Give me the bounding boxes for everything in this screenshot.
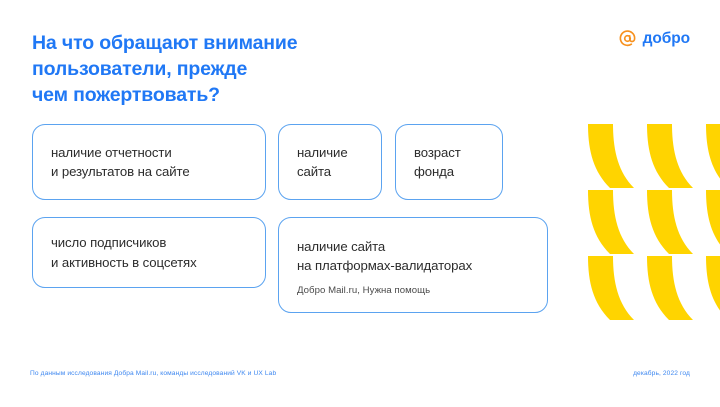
title-line-2: пользователи, прежде (32, 58, 247, 80)
dobro-logo[interactable]: добро (618, 29, 690, 48)
title-line-1: На что обращают внимание (32, 32, 297, 54)
at-circle-icon (618, 29, 637, 48)
factor-card-fund-age[interactable]: возраст фонда (395, 124, 503, 200)
footer-date: декабрь, 2022 год (633, 370, 690, 378)
card-label: наличие отчетности и результатов на сайт… (51, 143, 247, 182)
card-label: возраст фонда (414, 143, 484, 182)
slide-canvas: добро На что обращают внимание пользоват… (0, 0, 720, 407)
factor-card-website-presence[interactable]: наличие сайта (278, 124, 382, 200)
swoosh-pattern-svg (588, 120, 720, 330)
card-label: наличие сайта (297, 143, 363, 182)
card-sublabel: Добро Mail.ru, Нужна помощь (297, 285, 529, 297)
swoosh-row-1 (588, 124, 720, 188)
factor-card-validator-platforms[interactable]: наличие сайта на платформах-валидаторах … (278, 217, 548, 313)
factor-card-subscribers-and-activity[interactable]: число подписчиков и активность в соцсетя… (32, 217, 266, 288)
logo-text: добро (643, 31, 690, 47)
card-label: число подписчиков и активность в соцсетя… (51, 233, 247, 272)
page-title: На что обращают внимание пользователи, п… (32, 31, 432, 109)
yellow-swoosh-pattern (588, 120, 720, 330)
swoosh-row-2 (588, 190, 720, 254)
footer-source: По данным исследования Добра Mail.ru, ко… (30, 370, 276, 378)
title-line-3: чем пожертвовать? (32, 84, 220, 106)
factor-card-reporting-and-results[interactable]: наличие отчетности и результатов на сайт… (32, 124, 266, 200)
card-label: наличие сайта на платформах-валидаторах (297, 237, 529, 276)
swoosh-row-3 (588, 256, 720, 320)
